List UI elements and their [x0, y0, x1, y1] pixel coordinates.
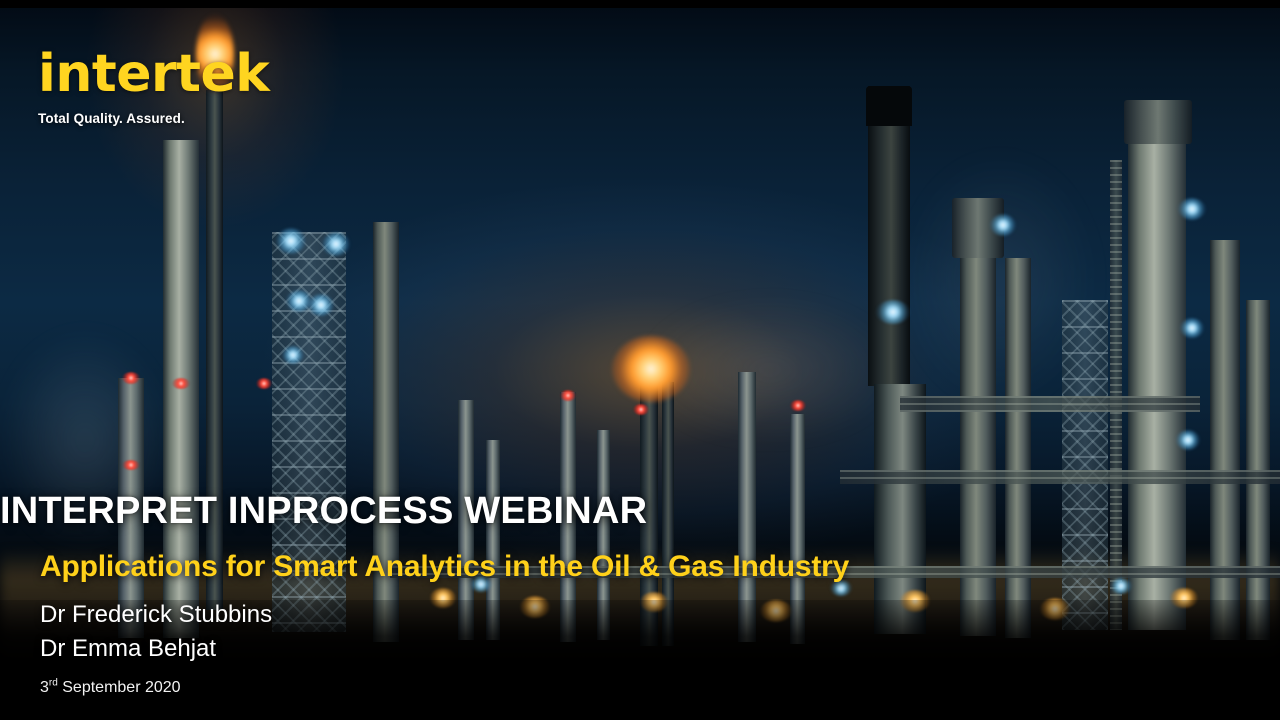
large-chimney-stack	[868, 86, 910, 386]
date-rest: September 2020	[58, 679, 181, 696]
warning-light-far-left-top	[122, 372, 140, 384]
floodlight-right-main-b	[1180, 318, 1204, 338]
plant-lamp-blue-3	[1110, 578, 1132, 594]
plant-lamp-5	[900, 590, 930, 612]
pipe-rack-deck-mid	[840, 470, 1280, 484]
plant-lamp-1	[430, 588, 456, 608]
tall-column-right-main	[1128, 110, 1186, 630]
warning-light-center-flare	[633, 404, 649, 415]
floodlight-lattice-top-b	[322, 232, 350, 256]
presenter-list: Dr Frederick Stubbins Dr Emma Behjat	[40, 598, 272, 666]
vessel-top-right-main	[1124, 100, 1192, 144]
presenter-name: Dr Frederick Stubbins	[40, 598, 272, 632]
chimney-stack-mid-d	[597, 430, 610, 640]
floodlight-right-a	[990, 214, 1016, 236]
pipe-ladder-right-main	[1110, 160, 1122, 630]
warning-light-mid-c	[560, 390, 576, 401]
floodlight-large-chimney	[876, 300, 910, 324]
intertek-wordmark: intertek	[38, 48, 269, 100]
letterbox-bar-top	[0, 0, 1280, 8]
column-far-right-a	[1210, 240, 1240, 640]
floodlight-lattice-mid-b	[308, 294, 334, 316]
plant-lamp-4	[760, 600, 792, 622]
flare-stack-left	[206, 90, 223, 610]
page-subtitle: Applications for Smart Analytics in the …	[40, 551, 849, 583]
date-day: 3	[40, 679, 49, 696]
date-ordinal-suffix: rd	[49, 678, 58, 689]
floodlight-right-main-c	[1176, 430, 1200, 450]
letterbox-bar-bottom	[0, 716, 1280, 720]
plant-lamp-7	[1170, 588, 1198, 608]
intertek-logo[interactable]: intertek Total Quality. Assured.	[38, 48, 269, 126]
presenter-name: Dr Emma Behjat	[40, 632, 272, 666]
pipe-rack-deck-upper	[900, 396, 1200, 412]
warning-light-far-left-mid	[122, 460, 140, 470]
slide-date: 3rd September 2020	[40, 679, 181, 697]
chimney-stack-right-of-flare	[738, 372, 756, 642]
floodlight-lattice-low	[282, 346, 304, 364]
title-slide: intertek Total Quality. Assured. INTERPR…	[0, 0, 1280, 720]
warning-light-lattice	[256, 378, 272, 389]
large-chimney-cap	[866, 86, 912, 126]
floodlight-right-main-a	[1178, 198, 1206, 220]
plant-lamp-6	[1040, 598, 1070, 620]
plant-lamp-2	[520, 596, 550, 618]
page-title: INTERPRET INPROCESS WEBINAR	[0, 492, 647, 532]
intertek-tagline: Total Quality. Assured.	[38, 111, 269, 126]
flare-flame-center	[612, 336, 690, 402]
warning-light-tall-column-left	[172, 378, 190, 389]
chimney-stack-mid-b	[486, 440, 500, 640]
lattice-tower-far-right	[1062, 300, 1108, 630]
distillation-column-right-b	[1005, 258, 1031, 638]
warning-light-right-of-flare	[790, 400, 806, 411]
plant-lamp-3	[640, 592, 668, 612]
floodlight-lattice-top-a	[276, 228, 306, 254]
chimney-stack-right-b	[790, 414, 805, 644]
